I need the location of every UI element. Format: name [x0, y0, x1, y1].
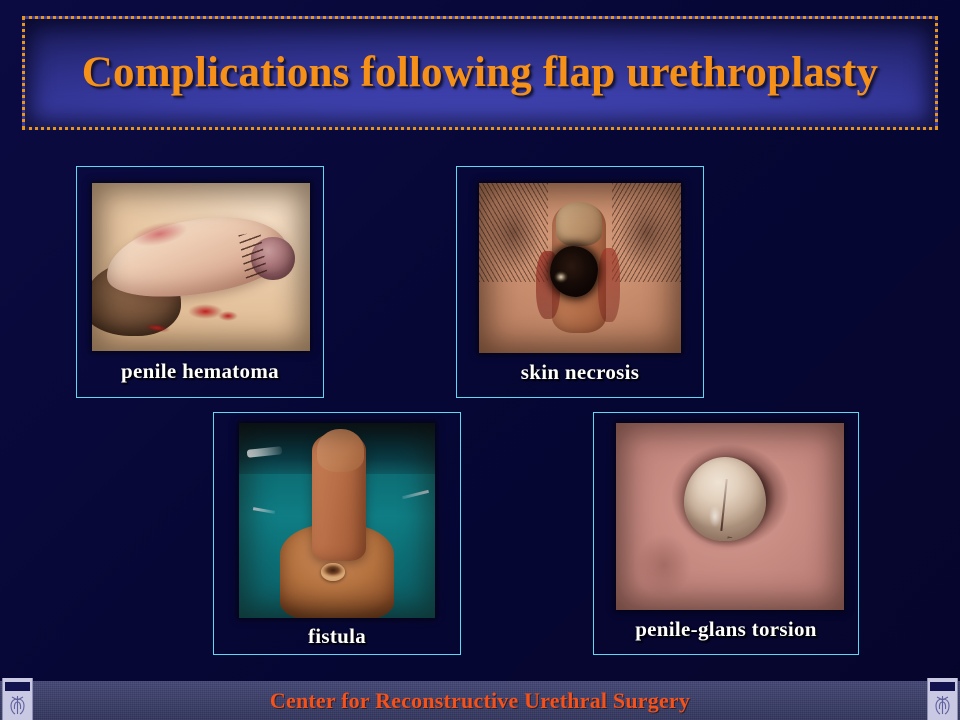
fleur-de-lis-icon: [6, 693, 29, 717]
figure-caption: penile hematoma: [77, 359, 323, 384]
page-title: Complications following flap urethroplas…: [64, 51, 896, 96]
fleur-de-lis-emblem: [2, 678, 33, 720]
footer-title: Center for Reconstructive Urethral Surge…: [270, 688, 690, 714]
presentation-slide: Complications following flap urethroplas…: [0, 0, 960, 720]
figure-panel-penile-glans-torsion: penile-glans torsion: [593, 412, 859, 655]
emblem-header-bar: [930, 682, 955, 691]
penile-hematoma-photo: [92, 183, 310, 351]
figure-caption: penile-glans torsion: [594, 617, 858, 642]
slide-footer: Center for Reconstructive Urethral Surge…: [0, 681, 960, 720]
skin-necrosis-photo: [479, 183, 681, 353]
figure-panel-skin-necrosis: skin necrosis: [456, 166, 704, 398]
figure-caption: fistula: [214, 624, 460, 649]
figure-panel-penile-hematoma: penile hematoma: [76, 166, 324, 398]
title-banner: Complications following flap urethroplas…: [22, 16, 938, 130]
fleur-de-lis-icon: [931, 693, 954, 717]
fistula-photo: [239, 423, 435, 618]
emblem-header-bar: [5, 682, 30, 691]
figure-caption: skin necrosis: [457, 360, 703, 385]
figure-panel-fistula: fistula: [213, 412, 461, 655]
fleur-de-lis-emblem: [927, 678, 958, 720]
penile-glans-torsion-photo: [616, 423, 844, 610]
